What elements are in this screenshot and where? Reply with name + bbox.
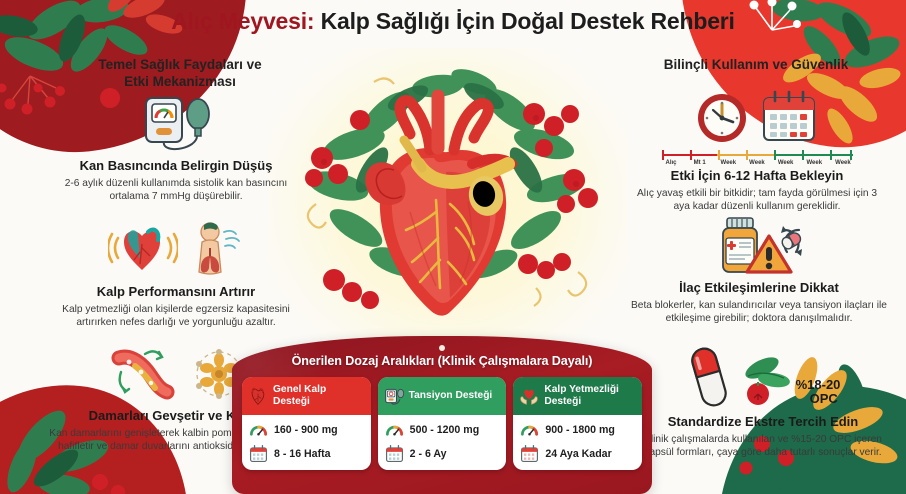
timeline-label-2: Week [714, 160, 742, 166]
dosage-card-heart-failure[interactable]: Kalp Yetmezliği Desteği 900 - 1800 mg [513, 377, 642, 470]
benefit-title-heart-performance: Kalp Performansını Artırır [48, 284, 304, 300]
left-heading-line1: Temel Sağlık Faydaları ve [55, 56, 305, 73]
safety-body-standardized-extract: Klinik çalışmalarda kullanılan ve %15-20… [632, 433, 894, 460]
clock-icon [694, 88, 750, 146]
dosage-card-general-heart[interactable]: Genel Kalp Desteği 160 - 900 mg [242, 377, 371, 470]
left-heading-line2: Etki Mekanizması [55, 73, 305, 90]
benefit-body-blood-pressure: 2-6 aylık düzenli kullanımda sistolik ka… [50, 177, 302, 204]
dosage-panel-title: Önerilen Dozaj Aralıkları (Klinik Çalışm… [232, 336, 652, 368]
heart-in-hands-icon [519, 386, 539, 406]
safety-block-drug-interactions: İlaç Etkileşimlerine Dikkat Beta blokerl… [628, 214, 890, 325]
timeline-label-5: Week [800, 160, 828, 166]
opc-badge-percent: %18-20 [796, 378, 841, 392]
dosage-card-label-blood-pressure: Tansiyon Desteği [409, 390, 493, 402]
dosage-row-duration: 8 - 16 Hafta [249, 444, 365, 463]
blood-pressure-monitor-icon [140, 92, 212, 154]
safety-block-wait-period: Alıç Mt 1 Week Week Week Week Week Etki … [628, 80, 886, 213]
title-accent: Alıç Meyvesi: [171, 8, 314, 34]
dosage-row-amount: 160 - 900 mg [249, 420, 365, 439]
gauge-icon [385, 420, 404, 439]
benefit-block-heart-performance: Kalp Performansını Artırır Kalp yetmezli… [48, 218, 304, 329]
blood-vessel-icon [105, 342, 185, 404]
anatomical-heart-icon [248, 386, 268, 406]
title-rest: Kalp Sağlığı İçin Doğal Destek Rehberi [314, 8, 734, 34]
calendar-icon [758, 88, 820, 146]
lungs-breathing-icon [186, 220, 244, 280]
capsule-icon [686, 344, 732, 410]
dosage-amount-heart-failure: 900 - 1800 mg [545, 424, 615, 436]
dosage-card-blood-pressure[interactable]: Tansiyon Desteği 500 - 1200 mg [378, 377, 507, 470]
safety-title-wait-period: Etki İçin 6-12 Hafta Bekleyin [628, 168, 886, 184]
calendar-icon [385, 444, 404, 463]
safety-title-drug-interactions: İlaç Etkileşimlerine Dikkat [628, 280, 890, 296]
benefit-block-blood-pressure: Kan Basıncında Belirgin Düşüş 2-6 aylık … [50, 92, 302, 203]
safety-block-standardized-extract: %18-20 OPC Standardize Ekstre Tercih Edi… [632, 344, 894, 459]
pill-bottle-warning-icon [699, 214, 819, 276]
opc-badge-label: OPC [796, 392, 841, 406]
calendar-icon [249, 444, 268, 463]
dosage-panel: Önerilen Dozaj Aralıkları (Klinik Çalışm… [232, 336, 652, 494]
calendar-icon [520, 444, 539, 463]
gauge-icon [520, 420, 539, 439]
left-column-heading: Temel Sağlık Faydaları ve Etki Mekanizma… [55, 56, 305, 91]
dosage-amount-general-heart: 160 - 900 mg [274, 424, 338, 436]
anatomical-heart-illustration [278, 52, 618, 362]
timeline-label-3: Week [743, 160, 771, 166]
benefit-title-blood-pressure: Kan Basıncında Belirgin Düşüş [50, 158, 302, 174]
timeline-label-0: Alıç [657, 160, 685, 166]
hawthorn-berry-leaf-icon [736, 354, 792, 410]
infographic-canvas: Alıç Meyvesi: Kalp Sağlığı İçin Doğal De… [0, 0, 906, 494]
right-column-heading: Bilinçli Kullanım ve Güvenlik [625, 56, 887, 73]
dosage-card-list: Genel Kalp Desteği 160 - 900 mg [232, 368, 652, 470]
dosage-card-label-general-heart: Genel Kalp Desteği [273, 384, 365, 407]
timeline-label-4: Week [772, 160, 800, 166]
timeline-label-6: Week [829, 160, 857, 166]
safety-title-standardized-extract: Standardize Ekstre Tercih Edin [632, 414, 894, 430]
dosage-row-duration: 2 - 6 Ay [385, 444, 501, 463]
gauge-icon [249, 420, 268, 439]
effect-timeline: Alıç Mt 1 Week Week Week Week Week [657, 150, 857, 166]
safety-body-drug-interactions: Beta blokerler, kan sulandırıcılar veya … [628, 299, 890, 326]
benefit-body-heart-performance: Kalp yetmezliği olan kişilerde egzersiz … [48, 303, 304, 330]
dosage-row-duration: 24 Aya Kadar [520, 444, 636, 463]
timeline-label-1: Mt 1 [686, 160, 714, 166]
dosage-row-amount: 900 - 1800 mg [520, 420, 636, 439]
dosage-card-label-heart-failure: Kalp Yetmezliği Desteği [544, 384, 636, 407]
dosage-amount-blood-pressure: 500 - 1200 mg [410, 424, 480, 436]
heart-pulse-icon [108, 220, 178, 280]
dosage-duration-heart-failure: 24 Aya Kadar [545, 448, 611, 460]
blood-pressure-monitor-icon [384, 386, 404, 406]
dosage-duration-blood-pressure: 2 - 6 Ay [410, 448, 447, 460]
dosage-row-amount: 500 - 1200 mg [385, 420, 501, 439]
page-title: Alıç Meyvesi: Kalp Sağlığı İçin Doğal De… [0, 8, 906, 35]
safety-body-wait-period: Alıç yavaş etkili bir bitkidir; tam fayd… [628, 187, 886, 214]
dosage-duration-general-heart: 8 - 16 Hafta [274, 448, 331, 460]
